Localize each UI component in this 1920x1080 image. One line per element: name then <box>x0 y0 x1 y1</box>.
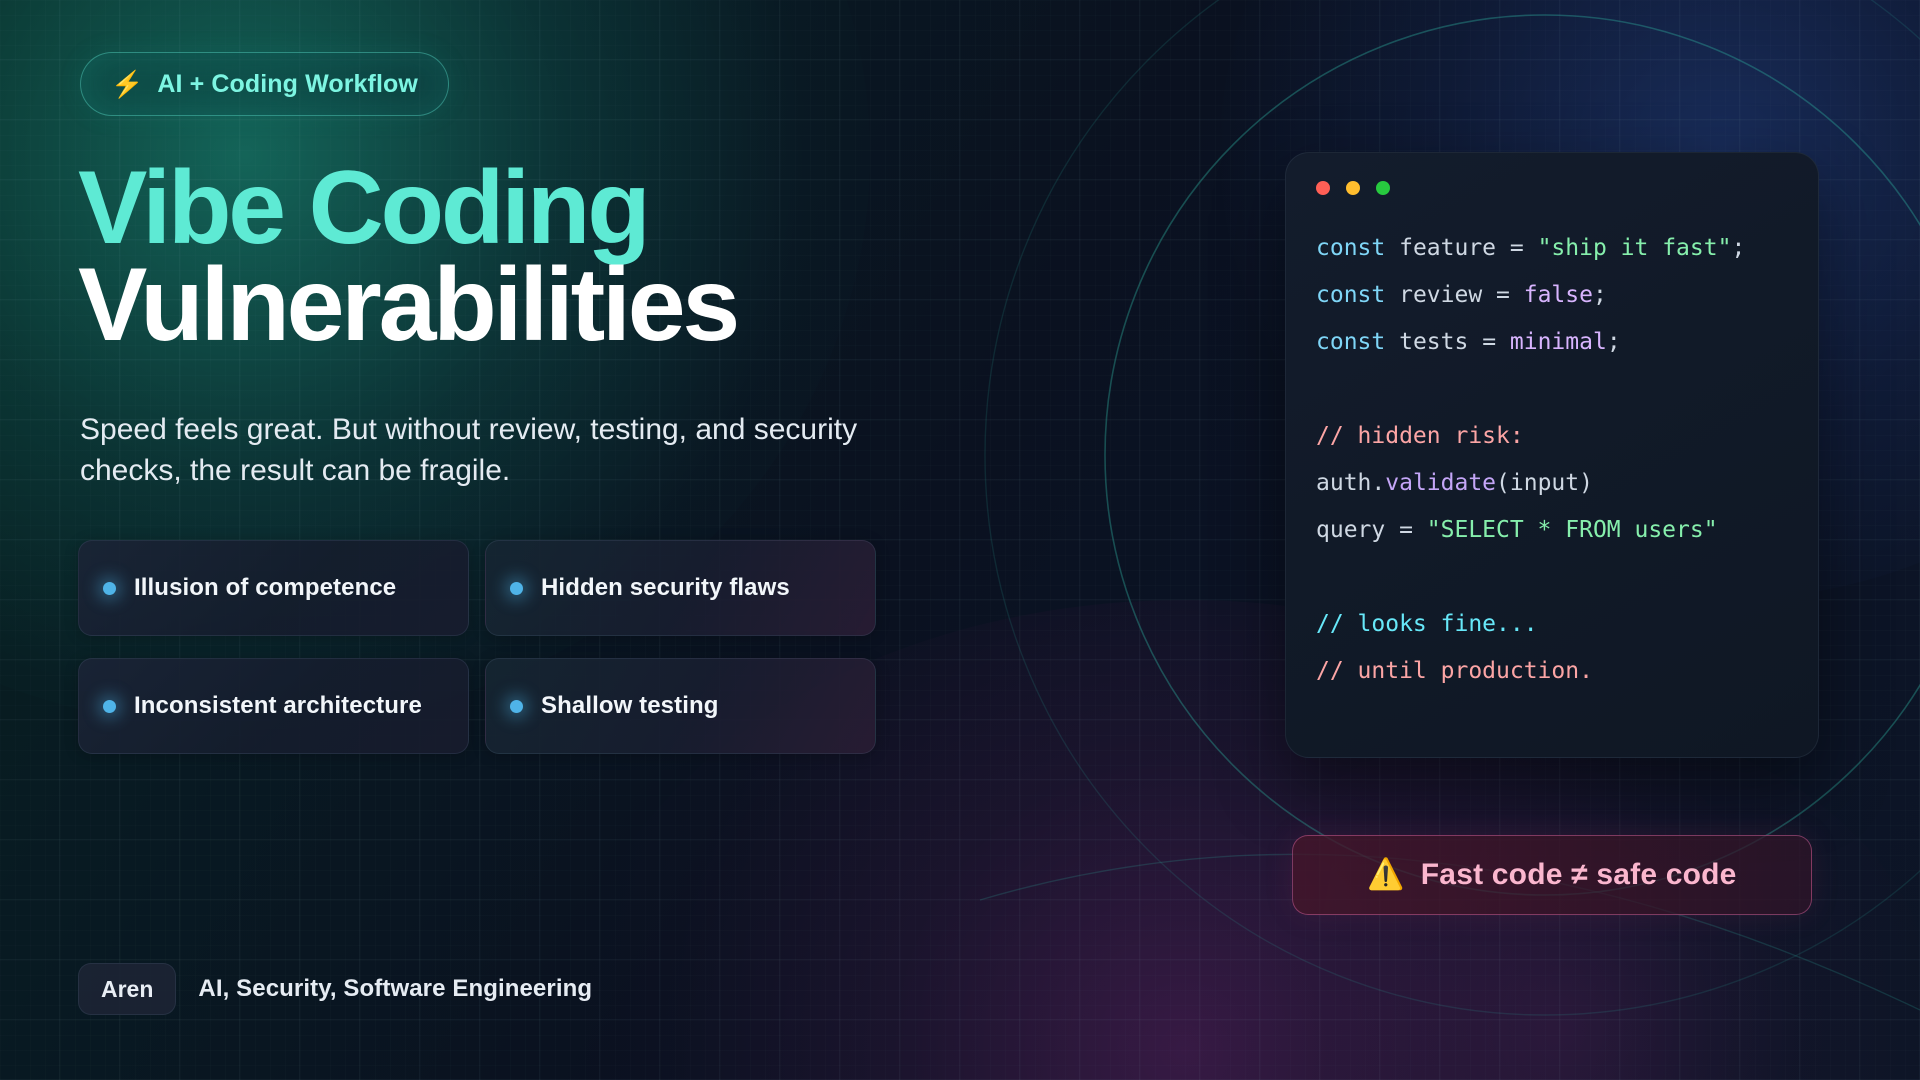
code-token: // hidden risk: <box>1316 423 1524 449</box>
risk-card-grid: Illusion of competence Hidden security f… <box>78 540 898 754</box>
code-line: // hidden risk: <box>1316 413 1788 460</box>
code-token: ; <box>1731 235 1745 261</box>
list-item-label: Illusion of competence <box>134 574 396 602</box>
window-close-icon[interactable] <box>1316 181 1330 195</box>
list-item[interactable]: Illusion of competence <box>78 540 469 636</box>
code-window: const feature = "ship it fast";const rev… <box>1285 152 1819 758</box>
code-body: const feature = "ship it fast";const rev… <box>1316 225 1788 695</box>
code-token: = <box>1496 282 1524 308</box>
code-token: "SELECT * FROM users" <box>1427 517 1718 543</box>
code-line: const feature = "ship it fast"; <box>1316 225 1788 272</box>
footer: Aren AI, Security, Software Engineering <box>78 963 592 1015</box>
code-token: false <box>1524 282 1593 308</box>
code-blank-line <box>1316 366 1788 413</box>
code-token: // looks fine... <box>1316 611 1538 637</box>
code-line: // looks fine... <box>1316 601 1788 648</box>
code-token: const <box>1316 329 1385 355</box>
code-token: feature <box>1385 235 1510 261</box>
code-token: auth. <box>1316 470 1385 496</box>
code-token: "ship it fast" <box>1538 235 1732 261</box>
bullet-dot-icon <box>510 700 523 713</box>
code-token: tests <box>1385 329 1482 355</box>
warning-triangle-icon: ⚠️ <box>1367 860 1404 890</box>
topic-badge-label: AI + Coding Workflow <box>157 70 418 99</box>
slide-canvas: ⚡ AI + Coding Workflow Vibe Coding Vulne… <box>0 0 1920 1080</box>
author-badge[interactable]: Aren <box>78 963 176 1015</box>
code-line: query = "SELECT * FROM users" <box>1316 507 1788 554</box>
window-traffic-lights <box>1316 181 1788 195</box>
bullet-dot-icon <box>510 582 523 595</box>
topic-badge[interactable]: ⚡ AI + Coding Workflow <box>80 52 449 116</box>
code-line: const tests = minimal; <box>1316 319 1788 366</box>
code-token: review <box>1385 282 1496 308</box>
code-blank-line <box>1316 554 1788 601</box>
code-token: ; <box>1593 282 1607 308</box>
page-subtitle: Speed feels great. But without review, t… <box>80 410 870 492</box>
code-token: = <box>1510 235 1538 261</box>
code-token: validate <box>1385 470 1496 496</box>
code-line: // until production. <box>1316 648 1788 695</box>
code-token: = <box>1482 329 1510 355</box>
bullet-dot-icon <box>103 582 116 595</box>
code-line: auth.validate(input) <box>1316 460 1788 507</box>
status-badge: ⚠️ Fast code ≠ safe code <box>1292 835 1812 915</box>
lightning-bolt-icon: ⚡ <box>111 71 143 97</box>
window-maximize-icon[interactable] <box>1376 181 1390 195</box>
code-line: const review = false; <box>1316 272 1788 319</box>
slide-content: ⚡ AI + Coding Workflow Vibe Coding Vulne… <box>0 0 1920 1080</box>
bullet-dot-icon <box>103 700 116 713</box>
window-minimize-icon[interactable] <box>1346 181 1360 195</box>
page-title-line-1: Vibe Coding <box>78 160 737 257</box>
code-token: // until production. <box>1316 658 1593 684</box>
code-token: const <box>1316 235 1385 261</box>
status-badge-label: Fast code ≠ safe code <box>1421 858 1737 892</box>
code-token: (input) <box>1496 470 1593 496</box>
footer-tags: AI, Security, Software Engineering <box>198 975 592 1003</box>
code-token: query = <box>1316 517 1427 543</box>
page-title: Vibe Coding Vulnerabilities <box>78 160 737 353</box>
list-item-label: Hidden security flaws <box>541 574 790 602</box>
list-item[interactable]: Hidden security flaws <box>485 540 876 636</box>
code-token: minimal <box>1510 329 1607 355</box>
list-item[interactable]: Shallow testing <box>485 658 876 754</box>
code-token: ; <box>1607 329 1621 355</box>
list-item[interactable]: Inconsistent architecture <box>78 658 469 754</box>
code-token: const <box>1316 282 1385 308</box>
list-item-label: Shallow testing <box>541 692 719 720</box>
page-title-line-2: Vulnerabilities <box>78 257 737 354</box>
list-item-label: Inconsistent architecture <box>134 692 422 720</box>
